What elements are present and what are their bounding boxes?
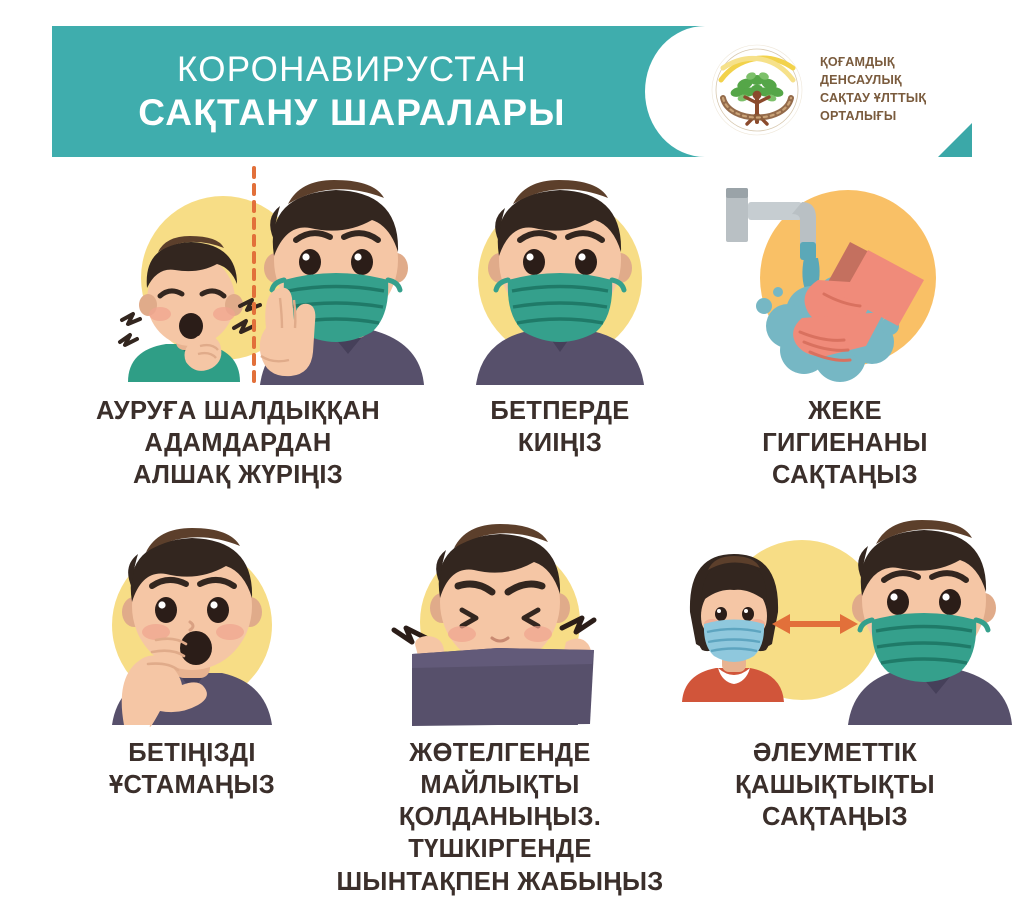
header-banner: КОРОНАВИРУСТАН САҚТАНУ ШАРАЛАРЫ — [52, 26, 972, 157]
logo-text: ҚОҒАМДЫҚ ДЕНСАУЛЫҚ САҚТАУ ҰЛТТЫҚ ОРТАЛЫҒ… — [820, 54, 972, 126]
caption-keep-distance-from-sick: АУРУҒА ШАЛДЫҚҚАН АДАМДАРДАН АЛШАҚ ЖҮРІҢІ… — [48, 395, 428, 491]
organization-logo: ҚОҒАМДЫҚ ДЕНСАУЛЫҚ САҚТАУ ҰЛТТЫҚ ОРТАЛЫҒ… — [707, 40, 972, 140]
measure-card-keep-distance-from-sick: АУРУҒА ШАЛДЫҚҚАН АДАМДАРДАН АЛШАҚ ЖҮРІҢІ… — [48, 160, 428, 491]
caption-personal-hygiene: ЖЕКЕ ГИГИЕНАНЫ САҚТАҢЫЗ — [700, 395, 990, 491]
two-masked-people-with-distance-arrow-icon — [660, 520, 1010, 725]
measure-card-personal-hygiene: ЖЕКЕ ГИГИЕНАНЫ САҚТАҢЫЗ — [700, 160, 990, 491]
masked-man-portrait-icon — [428, 160, 692, 385]
boy-covering-mouth-with-tissue-icon — [330, 520, 670, 725]
measure-card-do-not-touch-face: БЕТІҢІЗДІ ҰСТАМАҢЫЗ — [60, 520, 324, 801]
sick-person-and-masked-man-with-raised-hand-icon — [48, 160, 428, 385]
boy-touching-face-icon — [60, 520, 324, 725]
caption-do-not-touch-face: БЕТІҢІЗДІ ҰСТАМАҢЫЗ — [60, 737, 324, 801]
caption-wear-mask: БЕТПЕРДЕ КИІҢІЗ — [428, 395, 692, 459]
title-line-1: КОРОНАВИРУСТАН — [177, 51, 527, 88]
caption-cover-cough-sneeze: ЖӨТЕЛГЕНДЕ МАЙЛЫҚТЫ ҚОЛДАНЫҢЫЗ. ТҮШКІРГЕ… — [330, 737, 670, 898]
page-title: КОРОНАВИРУСТАН САҚТАНУ ШАРАЛАРЫ — [52, 26, 652, 157]
measure-card-social-distancing: ӘЛЕУМЕТТІК ҚАШЫҚТЫҚТЫ САҚТАҢЫЗ — [660, 520, 1010, 833]
tree-emblem-logo-icon — [707, 40, 807, 140]
hand-washing-under-faucet-icon — [700, 160, 990, 385]
measure-card-wear-mask: БЕТПЕРДЕ КИІҢІЗ — [428, 160, 692, 459]
logo-panel: ҚОҒАМДЫҚ ДЕНСАУЛЫҚ САҚТАУ ҰЛТТЫҚ ОРТАЛЫҒ… — [645, 26, 972, 157]
prevention-measures-grid: АУРУҒА ШАЛДЫҚҚАН АДАМДАРДАН АЛШАҚ ЖҮРІҢІ… — [0, 160, 1024, 876]
caption-social-distancing: ӘЛЕУМЕТТІК ҚАШЫҚТЫҚТЫ САҚТАҢЫЗ — [660, 737, 1010, 833]
measure-card-cover-cough-sneeze: ЖӨТЕЛГЕНДЕ МАЙЛЫҚТЫ ҚОЛДАНЫҢЫЗ. ТҮШКІРГЕ… — [330, 520, 670, 898]
title-line-2: САҚТАНУ ШАРАЛАРЫ — [138, 93, 565, 132]
